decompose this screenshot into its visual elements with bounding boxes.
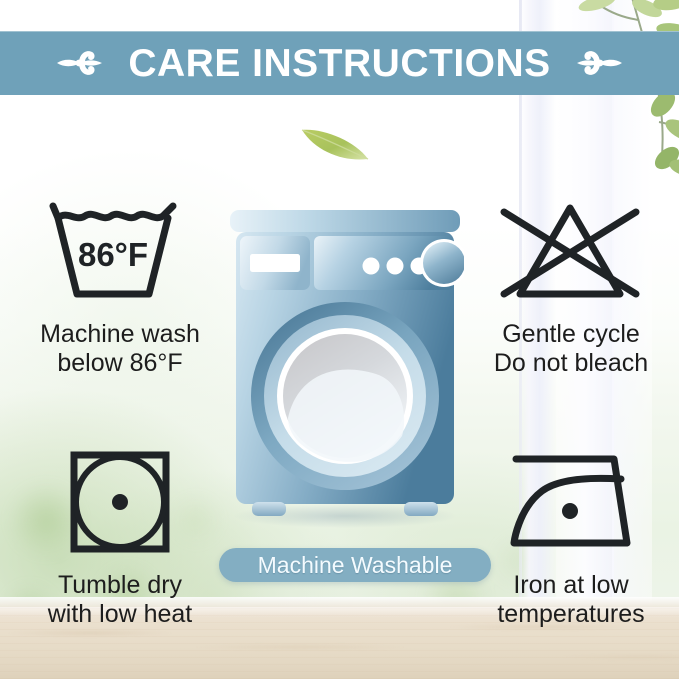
- control-dial: [423, 242, 464, 284]
- tumble-dry-heat-dot: [112, 494, 128, 510]
- drawer-handle: [250, 254, 300, 272]
- machine-washable-badge: Machine Washable: [219, 548, 491, 582]
- page-title: CARE INSTRUCTIONS: [128, 44, 550, 83]
- care-instructions-infographic: CARE INSTRUCTIONS: [0, 0, 679, 679]
- wash-tub-icon: 86°F: [45, 196, 195, 311]
- tumble-dry-low-heat-icon: [45, 447, 195, 562]
- indicator-light-1: [363, 258, 380, 275]
- wash-temperature-value: 86°F: [78, 236, 148, 273]
- care-caption-machine-wash: Machine wash below 86°F: [40, 320, 200, 377]
- indicator-light-2: [387, 258, 404, 275]
- care-symbol-iron-low: Iron at low temperatures: [468, 447, 674, 628]
- machine-top-cap: [230, 210, 460, 232]
- fleur-de-lis-icon-right: [573, 43, 631, 83]
- iron-heat-dot: [562, 503, 578, 519]
- machine-foot-right: [404, 502, 438, 516]
- care-symbol-do-not-bleach: Gentle cycle Do not bleach: [468, 196, 674, 377]
- washing-machine-illustration: [226, 210, 464, 528]
- care-caption-iron-low: Iron at low temperatures: [497, 571, 644, 628]
- care-symbol-tumble-dry: Tumble dry with low heat: [22, 447, 218, 628]
- iron-one-dot-icon: [496, 447, 646, 562]
- care-caption-do-not-bleach: Gentle cycle Do not bleach: [494, 320, 648, 377]
- machine-washable-badge-label: Machine Washable: [258, 554, 453, 577]
- machine-foot-left: [252, 502, 286, 516]
- triangle-crossed-no-bleach-icon: [496, 196, 646, 311]
- header-banner: CARE INSTRUCTIONS: [0, 31, 679, 95]
- care-caption-tumble-dry: Tumble dry with low heat: [48, 571, 193, 628]
- care-symbol-machine-wash: 86°F Machine wash below 86°F: [22, 196, 218, 377]
- fleur-de-lis-icon-left: [48, 43, 106, 83]
- floating-leaf-icon: [296, 124, 374, 164]
